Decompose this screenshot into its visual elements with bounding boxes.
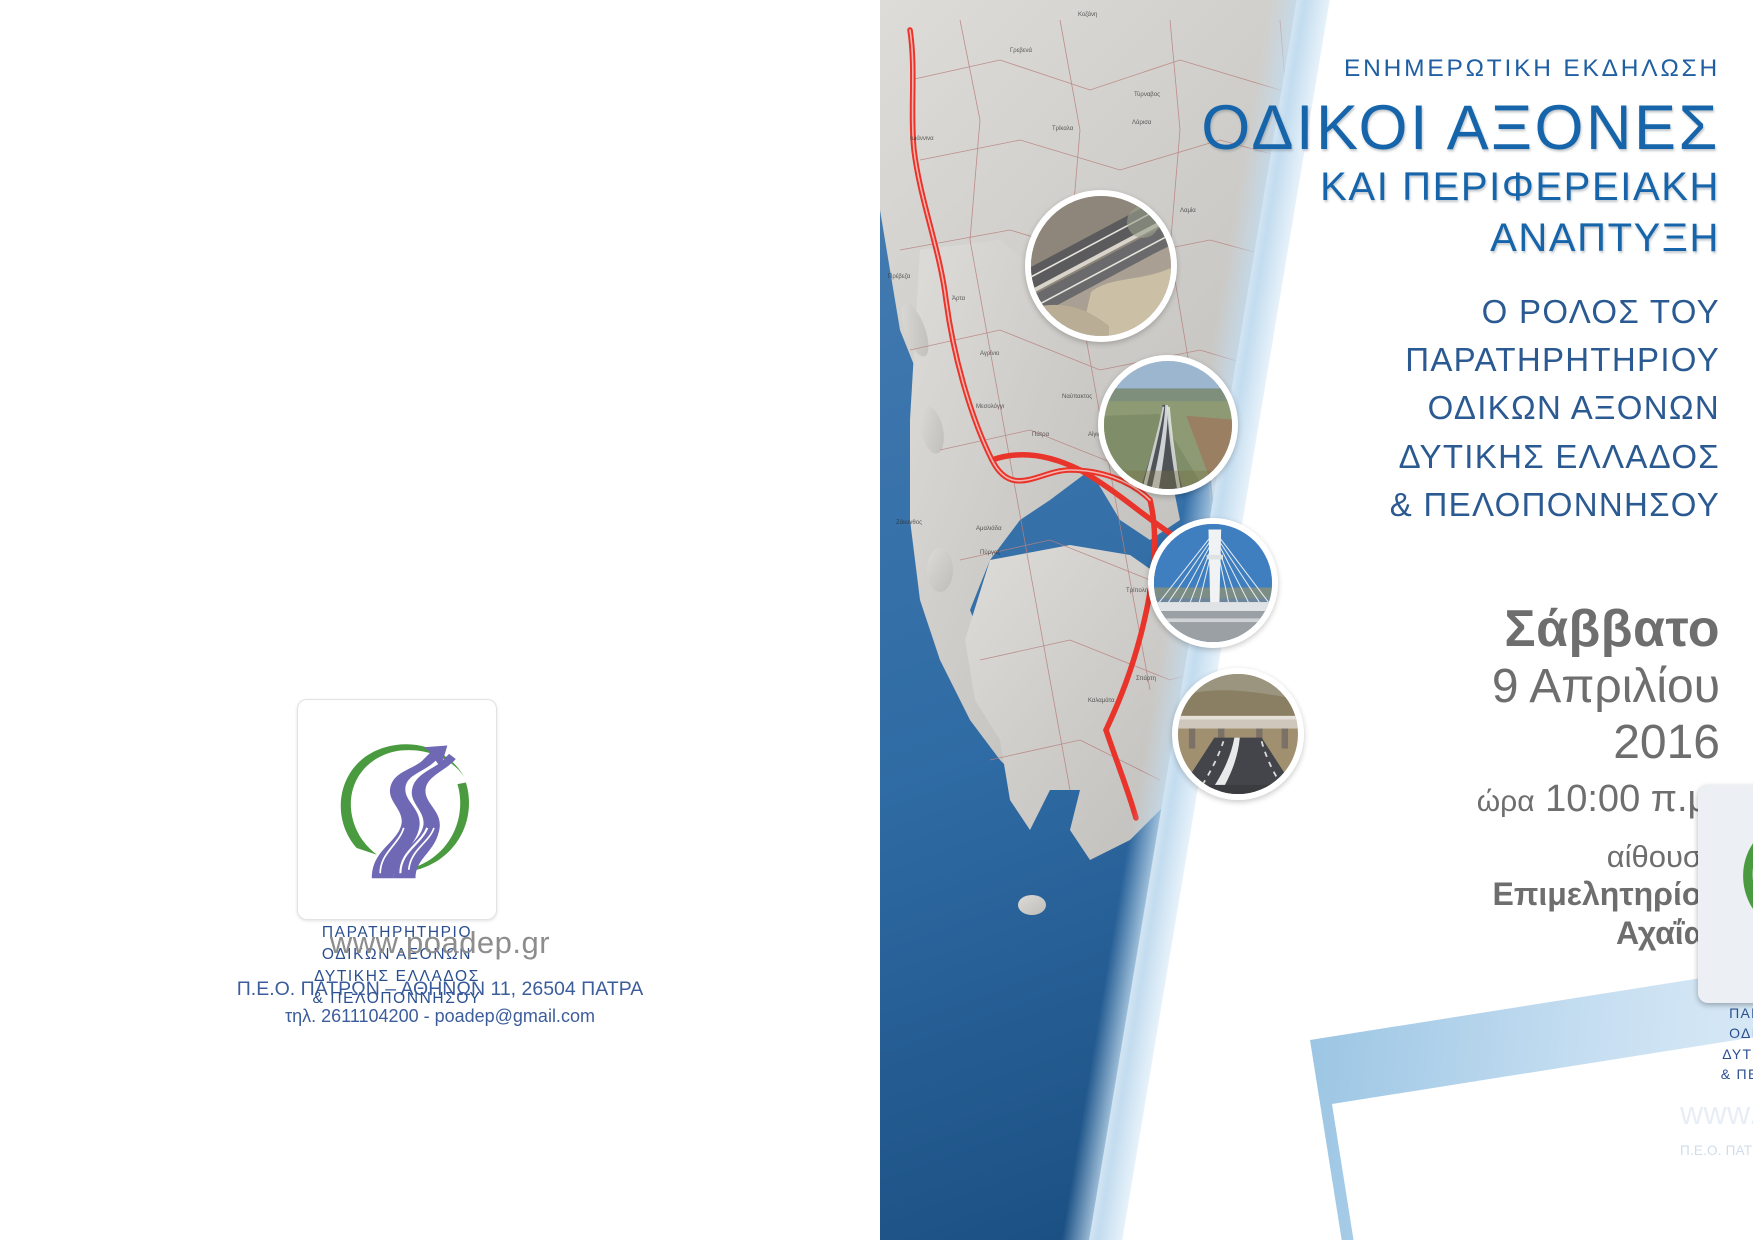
venue-prefix: αίθουσα [1492,838,1720,875]
role-line-3: ΟΔΙΚΩΝ ΑΞΟΝΩΝ [1390,384,1720,432]
cover-website-link[interactable]: www.poadep.gr [1680,1095,1753,1132]
page-title: ΟΔΙΚΟΙ ΑΞΟΝΕΣ [1201,92,1720,164]
svg-text:Σπάρτη: Σπάρτη [1136,675,1156,682]
event-weekday: Σάββατο [1477,600,1720,658]
svg-text:Τρίπολη: Τρίπολη [1126,588,1148,594]
back-address-line-1: Π.Ε.Ο. ΠΑΤΡΩΝ – ΑΘΗΝΩΝ 11, 26504 ΠΑΤΡΑ [0,975,880,1003]
winding-road-arrow-logo [313,722,481,890]
svg-text:Αγρίνιο: Αγρίνιο [980,351,1000,357]
svg-text:Ναύπακτος: Ναύπακτος [1062,394,1092,400]
svg-text:Πάτρα: Πάτρα [1032,431,1050,438]
role-line-1: Ο ΡΟΛΟΣ ΤΟΥ [1390,288,1720,336]
back-address-line-2[interactable]: τηλ. 2611104200 - poadep@gmail.com [0,1003,880,1029]
svg-text:Πρέβεζα: Πρέβεζα [888,273,911,280]
venue-line-1: Επιμελητηρίου [1492,875,1720,913]
cover-logo-card [1698,785,1753,1003]
kicker-text: ΕΝΗΜΕΡΩΤΙΚΗ ΕΚΔΗΛΩΣΗ [1344,55,1720,83]
motorway-interchange-aerial-photo [1025,190,1177,342]
role-text-block: Ο ΡΟΛΟΣ ΤΟΥ ΠΑΡΑΤΗΡΗΤΗΡΙΟΥ ΟΔΙΚΩΝ ΑΞΟΝΩΝ… [1390,288,1720,529]
flyer-page: ΠΑΡΑΤΗΡΗΤΗΡΙΟ ΟΔΙΚΩΝ ΑΞΟΝΩΝ ΔΥΤΙΚΗΣ ΕΛΛΑ… [0,0,1753,1240]
back-website-link[interactable]: www.poadep.gr [0,925,880,961]
page-subtitle: ΚΑΙ ΠΕΡΙΦΕΡΕΙΑΚΗ ΑΝΑΠΤΥΞΗ [1320,162,1720,264]
cover-address-line: Π.Ε.Ο. ΠΑΤΡΩΝ – ΑΘΗΝΩΝ 11, 26504 ΠΑΤΡΑ -… [1680,1143,1753,1158]
front-cover-panel: Κοζάνη Γρεβενά Τρίκαλα Καρδίτσα Λάρισα Τ… [880,0,1753,1240]
svg-text:Λαμία: Λαμία [1180,208,1196,214]
logo-caption-line-3: ΔΥΤΙΚΗΣ ΕΛΛΑΔΟΣ [1698,1044,1753,1064]
subtitle-line-1: ΚΑΙ ΠΕΡΙΦΕΡΕΙΑΚΗ [1320,162,1720,213]
event-venue-block: αίθουσα Επιμελητηρίου Αχαΐας [1492,838,1720,952]
cover-logo-caption: ΠΑΡΑΤΗΡΗΤΗΡΙΟ ΟΔΙΚΩΝ ΑΞΟΝΩΝ ΔΥΤΙΚΗΣ ΕΛΛΑ… [1698,1003,1753,1084]
logo-caption-line-1: ΠΑΡΑΤΗΡΗΤΗΡΙΟ [1698,1003,1753,1023]
svg-text:Λάρισα: Λάρισα [1132,119,1152,126]
event-time-prefix: ώρα [1477,785,1535,818]
svg-text:Ιωάννινα: Ιωάννινα [910,135,934,142]
svg-text:Γρεβενά: Γρεβενά [1010,47,1033,54]
svg-text:Αμαλιάδα: Αμαλιάδα [976,525,1002,532]
role-line-5: & ΠΕΛΟΠΟΝΝΗΣΟΥ [1390,481,1720,529]
rio-antirrio-bridge-photo [1148,518,1278,648]
subtitle-line-2: ΑΝΑΠΤΥΞΗ [1320,213,1720,264]
event-date: 9 Απριλίου [1477,660,1720,714]
back-address-block: Π.Ε.Ο. ΠΑΤΡΩΝ – ΑΘΗΝΩΝ 11, 26504 ΠΑΤΡΑ τ… [0,975,880,1029]
svg-text:Μεσολόγγι: Μεσολόγγι [976,403,1005,410]
logo-caption-line-4: & ΠΕΛΟΠΟΝΝΗΣΟΥ [1698,1064,1753,1084]
svg-text:Ζάκυνθος: Ζάκυνθος [896,519,922,526]
event-time: ώρα 10:00 π.μ. [1477,778,1720,821]
winding-road-arrow-logo [1716,797,1753,955]
motorway-overpass-photo [1172,668,1304,800]
svg-text:Άρτα: Άρτα [952,296,966,302]
svg-text:Τύρναβος: Τύρναβος [1134,92,1160,98]
motorway-straight-aerial-photo [1098,355,1238,495]
svg-text:Τρίκαλα: Τρίκαλα [1052,126,1074,132]
role-line-2: ΠΑΡΑΤΗΡΗΤΗΡΙΟΥ [1390,336,1720,384]
logo-caption-line-2: ΟΔΙΚΩΝ ΑΞΟΝΩΝ [1698,1023,1753,1043]
back-logo-card [297,699,497,920]
venue-line-2: Αχαΐας [1492,914,1720,952]
svg-text:Πύργος: Πύργος [980,550,1000,556]
event-time-value: 10:00 π.μ. [1545,778,1720,820]
svg-text:Κοζάνη: Κοζάνη [1078,11,1097,18]
svg-text:Καλαμάτα: Καλαμάτα [1088,697,1115,704]
back-panel: ΠΑΡΑΤΗΡΗΤΗΡΙΟ ΟΔΙΚΩΝ ΑΞΟΝΩΝ ΔΥΤΙΚΗΣ ΕΛΛΑ… [0,0,880,1240]
event-date-block: Σάββατο 9 Απριλίου 2016 ώρα 10:00 π.μ. [1477,600,1720,820]
role-line-4: ΔΥΤΙΚΗΣ ΕΛΛΑΔΟΣ [1390,433,1720,481]
event-year: 2016 [1477,716,1720,770]
